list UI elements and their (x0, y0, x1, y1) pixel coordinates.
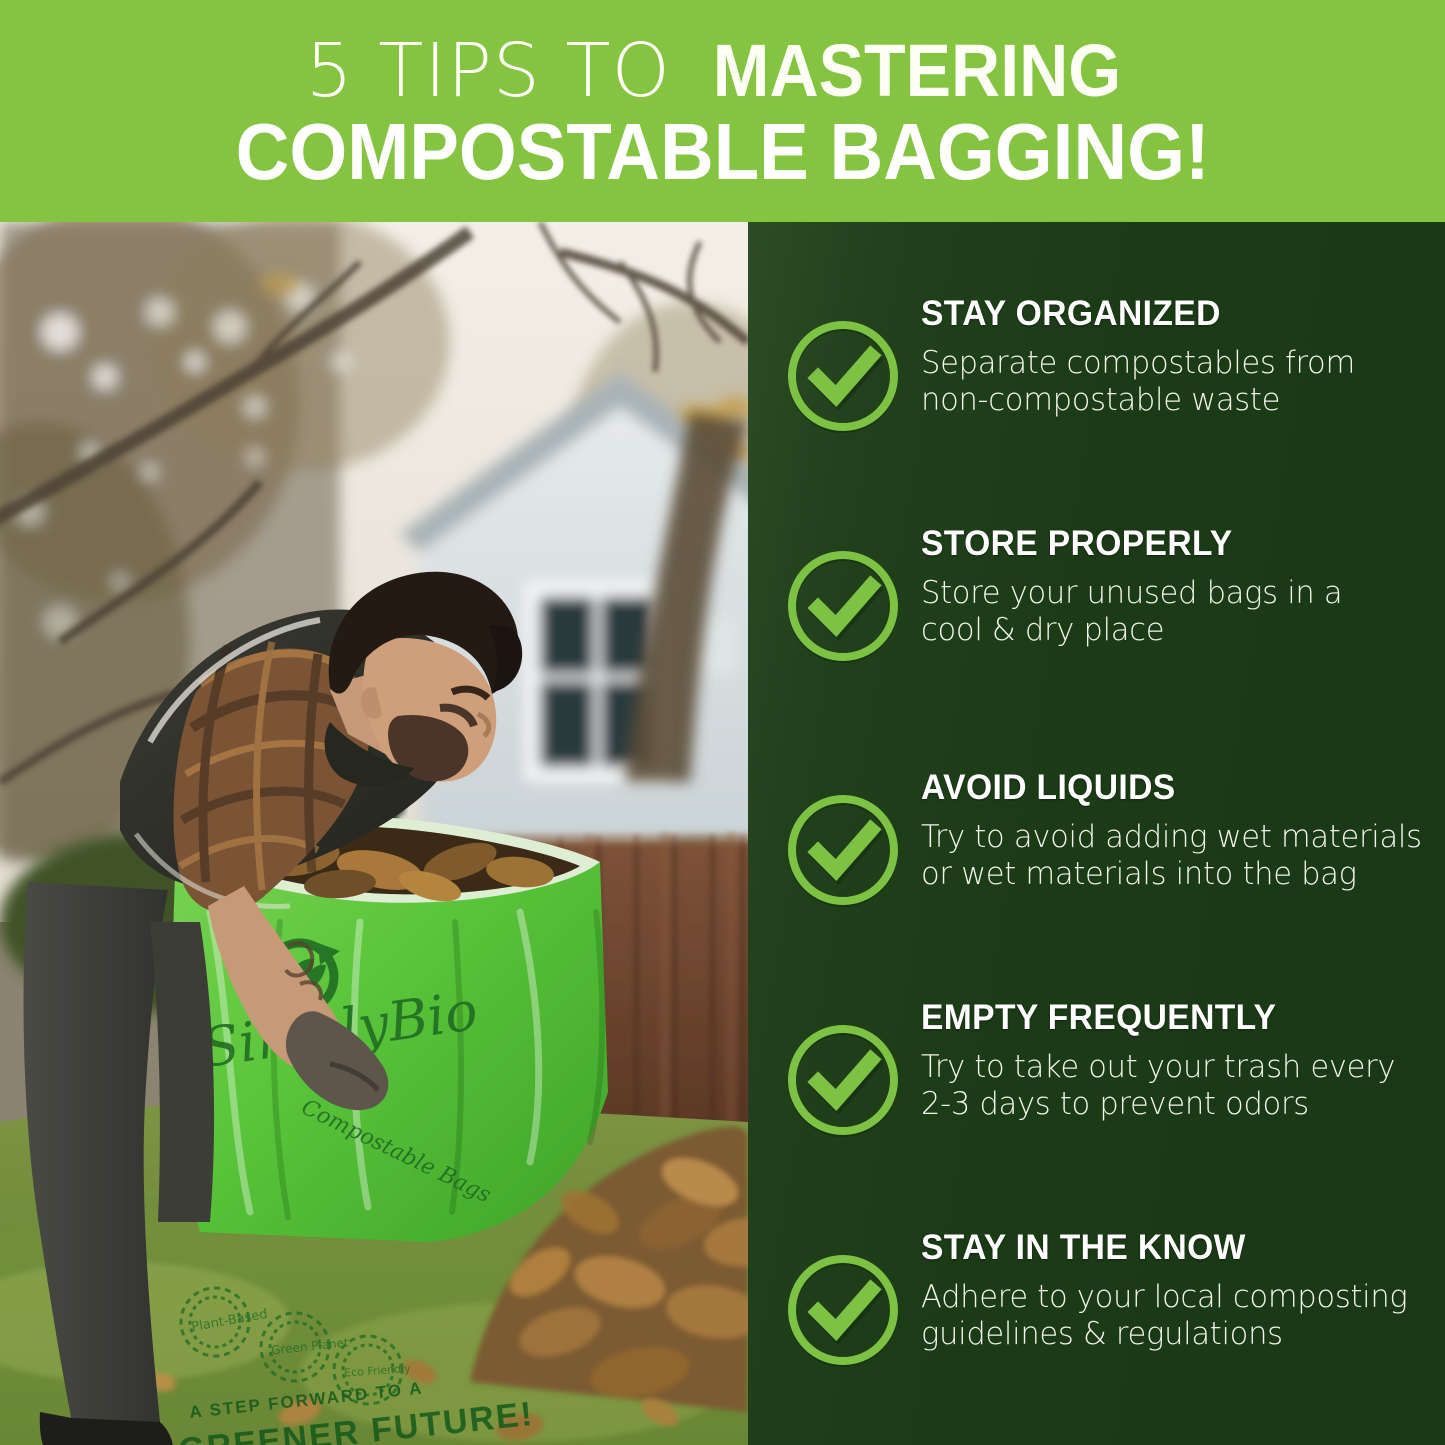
tip-title: EMPTY FREQUENTLY (921, 1000, 1390, 1035)
title-prefix: 5 TIPS TO (306, 28, 696, 114)
tip-body: Try to avoid adding wet materials or wet… (921, 819, 1422, 892)
tip-text: STAY ORGANIZED Separate compostables fro… (901, 290, 1368, 418)
tip-body-line: 2-3 days to prevent odors (921, 1086, 1395, 1123)
tip-item: EMPTY FREQUENTLY Try to take out your tr… (785, 994, 1445, 1138)
tip-item: STAY ORGANIZED Separate compostables fro… (785, 290, 1445, 434)
tip-body-line: or wet materials into the bag (921, 856, 1422, 893)
tip-title: STAY IN THE KNOW (921, 1230, 1402, 1265)
tip-text: EMPTY FREQUENTLY Try to take out your tr… (901, 994, 1410, 1122)
tip-body-line: Store your unused bags in a (921, 575, 1342, 612)
check-circle-icon (785, 792, 901, 908)
infographic-poster: 5 TIPS TO MASTERING COMPOSTABLE BAGGING! (0, 0, 1445, 1445)
page-title-line-1: 5 TIPS TO MASTERING (306, 35, 1140, 107)
hero-photo: SimplyBio Compostable Bags Plant-Based G… (0, 222, 748, 1445)
photo-illustration: SimplyBio Compostable Bags Plant-Based G… (0, 222, 748, 1445)
header-banner: 5 TIPS TO MASTERING COMPOSTABLE BAGGING! (0, 0, 1445, 222)
tips-panel: STAY ORGANIZED Separate compostables fro… (748, 222, 1445, 1445)
check-circle-icon (785, 318, 901, 434)
tip-title: AVOID LIQUIDS (921, 770, 1417, 805)
check-circle-icon (785, 1022, 901, 1138)
page-title-line-2: COMPOSTABLE BAGGING! (235, 113, 1209, 191)
tip-body-line: Try to avoid adding wet materials (921, 819, 1422, 856)
tip-item: STORE PROPERLY Store your unused bags in… (785, 520, 1445, 664)
tip-text: AVOID LIQUIDS Try to avoid adding wet ma… (901, 764, 1437, 892)
check-circle-icon (785, 1252, 901, 1368)
tip-body-line: Separate compostables from (921, 345, 1355, 382)
tip-text: STORE PROPERLY Store your unused bags in… (901, 520, 1355, 648)
tip-item: STAY IN THE KNOW Adhere to your local co… (785, 1224, 1445, 1368)
tip-body-line: Adhere to your local composting (921, 1279, 1407, 1316)
tip-body: Adhere to your local composting guidelin… (921, 1279, 1407, 1352)
check-circle-icon (785, 548, 901, 664)
tip-body-line: non-compostable waste (921, 382, 1355, 419)
tip-title: STORE PROPERLY (921, 526, 1338, 561)
tip-body: Try to take out your trash every 2-3 day… (921, 1049, 1395, 1122)
tip-text: STAY IN THE KNOW Adhere to your local co… (901, 1224, 1423, 1352)
tip-body-line: Try to take out your trash every (921, 1049, 1395, 1086)
tip-body-line: guidelines & regulations (921, 1316, 1407, 1353)
tip-body: Separate compostables from non-compostab… (921, 345, 1355, 418)
tip-item: AVOID LIQUIDS Try to avoid adding wet ma… (785, 764, 1445, 908)
title-emphasis: MASTERING (713, 35, 1121, 106)
tip-body-line: cool & dry place (921, 612, 1342, 649)
tips-list: STAY ORGANIZED Separate compostables fro… (748, 222, 1445, 1445)
tip-title: STAY ORGANIZED (921, 296, 1350, 331)
tip-body: Store your unused bags in a cool & dry p… (921, 575, 1342, 648)
